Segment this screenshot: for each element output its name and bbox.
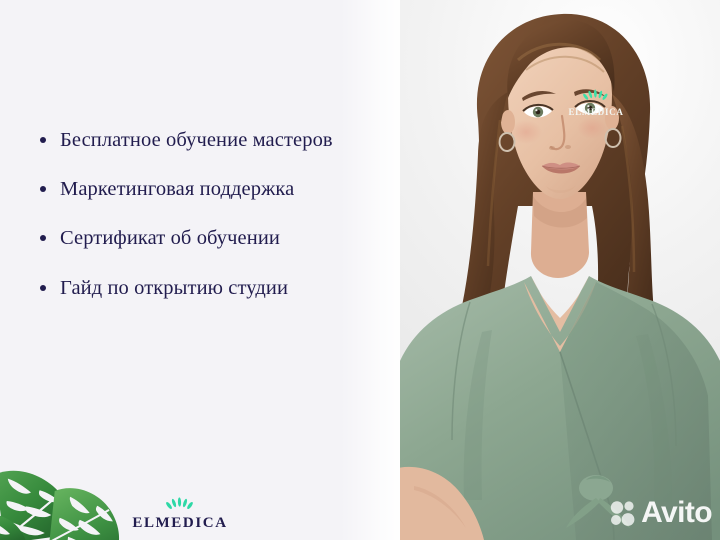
list-item-label: Маркетинговая поддержка <box>60 178 294 200</box>
list-item: Сертификат об обучении <box>36 226 376 250</box>
list-item: Гайд по открытию студии <box>36 276 376 300</box>
avito-label: Avito <box>641 498 712 528</box>
list-item-label: Гайд по открытию студии <box>60 277 288 299</box>
bullet-dot-icon <box>40 235 46 241</box>
list-item-label: Бесплатное обучение мастеров <box>60 129 333 151</box>
avito-dots-icon <box>609 500 636 527</box>
leaf-fan-icon <box>165 496 195 512</box>
brand-logo: ELMEDICA <box>0 496 360 532</box>
bullet-dot-icon <box>40 186 46 192</box>
list-item: Бесплатное обучение мастеров <box>36 128 376 152</box>
bullet-dot-icon <box>40 137 46 143</box>
list-item-label: Сертификат об обучении <box>60 227 280 249</box>
bullet-dot-icon <box>40 285 46 291</box>
svg-text:ELMEDICA: ELMEDICA <box>568 107 623 117</box>
promo-slide: Бесплатное обучение мастеров Маркетингов… <box>0 0 720 540</box>
brand-name-label: ELMEDICA <box>132 515 227 531</box>
left-content-panel: Бесплатное обучение мастеров Маркетингов… <box>0 0 400 540</box>
benefits-list: Бесплатное обучение мастеров Маркетингов… <box>36 128 376 300</box>
woman-portrait-illustration: ELMEDICA <box>400 0 720 540</box>
avito-watermark: Avito <box>609 498 712 528</box>
list-item: Маркетинговая поддержка <box>36 177 376 201</box>
model-photo: ELMEDICA Avito <box>400 0 720 540</box>
